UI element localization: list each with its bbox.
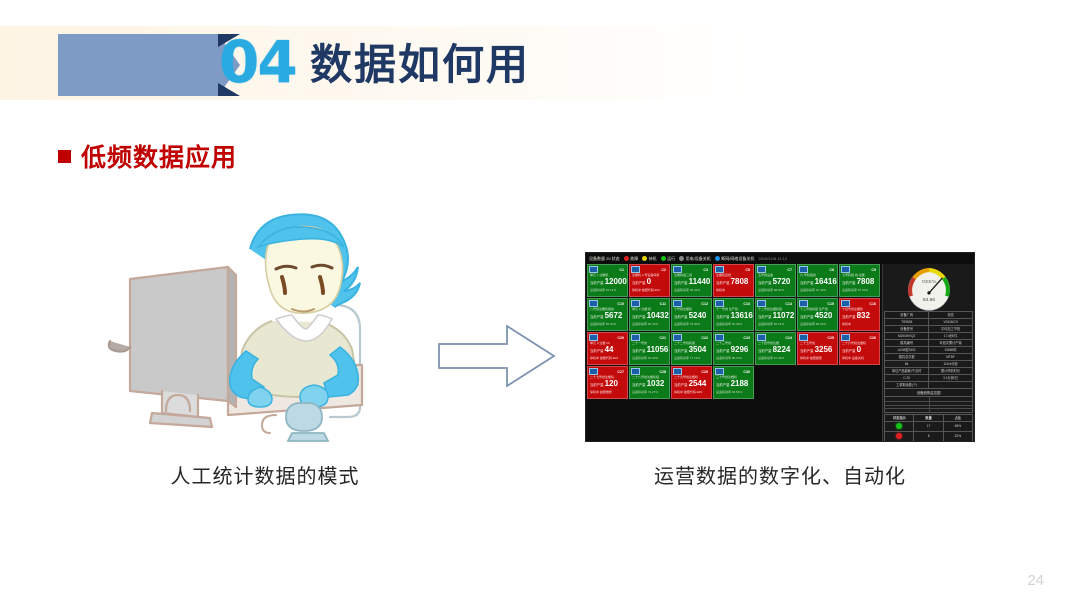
machine-output-label: 当前产量 bbox=[716, 349, 730, 353]
machine-icon bbox=[589, 300, 598, 307]
machine-id: C14 bbox=[785, 302, 794, 306]
machine-icon bbox=[715, 266, 724, 273]
subheading: 低频数据应用 bbox=[58, 138, 237, 174]
info-row: TS9605V0416/C9 bbox=[885, 319, 973, 326]
machine-id: C12 bbox=[701, 302, 710, 306]
machine-tile[interactable]: C16十四号线注塑机当前产量832停机中 bbox=[839, 298, 880, 331]
machine-icon bbox=[757, 334, 766, 341]
summary-row: 1768% bbox=[885, 422, 973, 432]
info-row: 模具总次数MTBF bbox=[885, 354, 973, 361]
machine-status-note: 设备稼动率 74.27% bbox=[630, 390, 669, 394]
info-row: 工单剩余数(个) bbox=[885, 382, 973, 389]
machine-icon bbox=[589, 334, 598, 341]
machine-tile[interactable]: C1单元 1 注塑机当前产量12000设备稼动率 93.12% bbox=[587, 264, 628, 297]
machine-output-value: 11440 bbox=[689, 277, 711, 286]
legend-item-network-off: 断网/网络设备关机 bbox=[715, 256, 755, 262]
summary-percent: 68% bbox=[943, 422, 972, 432]
page-number: 24 bbox=[1027, 572, 1044, 589]
machine-id: C3 bbox=[703, 268, 710, 272]
machine-icon bbox=[715, 300, 724, 307]
right-arrow-icon bbox=[437, 322, 557, 390]
machine-output-value: 0 bbox=[857, 345, 861, 354]
machine-status-note: 设备稼动率 90.44% bbox=[630, 322, 669, 326]
machine-status-note: 设备稼动率 94.30% bbox=[630, 356, 669, 360]
machine-status-note: 停机中 故障报警 bbox=[798, 356, 837, 360]
machine-tile[interactable]: C22二十二号线机组当前产量3504设备稼动率 77.12% bbox=[671, 332, 712, 365]
machine-output-label: 当前产量 bbox=[758, 349, 772, 353]
machine-output-label: 当前产量 bbox=[632, 315, 646, 319]
info-cell: V0416/C9 bbox=[929, 319, 973, 326]
summary-percent: 32% bbox=[943, 432, 972, 442]
oee-gauge: OEE% 84.86 bbox=[884, 265, 973, 311]
right-caption: 运营数据的数字化、自动化 bbox=[590, 460, 970, 489]
machine-id: C15 bbox=[827, 302, 836, 306]
page-title: 数据如何用 bbox=[310, 40, 530, 90]
status-dot-green-icon bbox=[885, 422, 914, 432]
info-row: 模具编号本班次累计产量 bbox=[885, 340, 973, 347]
legend-dot-idle bbox=[642, 256, 647, 261]
machine-id: C25 bbox=[827, 336, 836, 340]
dashboard-body: C1单元 1 注塑机当前产量12000设备稼动率 93.12%C2注塑机 2 号… bbox=[586, 264, 974, 442]
slide-header: 04 数据如何用 bbox=[0, 0, 1080, 120]
factory-production-dashboard: 设备数量 25 状态 故障 待机 运行 用电/设备关机 断网/网络设备关机 20… bbox=[585, 252, 975, 442]
machine-output-value: 11072 bbox=[773, 311, 795, 320]
machine-tile[interactable]: C28二十八号线注塑机组当前产量1032设备稼动率 74.27% bbox=[629, 366, 670, 399]
info-row: MJ00WVQ217.6秒/件 bbox=[885, 333, 973, 340]
machine-output-label: 当前产量 bbox=[800, 315, 814, 319]
machine-status-note: 停机中 故障代码 E03 bbox=[588, 356, 627, 360]
summary-count: 17 bbox=[914, 422, 943, 432]
machine-icon bbox=[715, 368, 724, 375]
legend-dot-fault bbox=[624, 256, 629, 261]
info-row: A208型280210886件 bbox=[885, 347, 973, 354]
summary-header-row: 状态指示数量占比 bbox=[885, 415, 973, 422]
machine-status-note: 设备稼动率 87.20% bbox=[840, 288, 879, 292]
machine-id: C28 bbox=[659, 370, 668, 374]
gauge-value: 84.86 bbox=[922, 297, 935, 303]
person-at-desktop-computer-illustration bbox=[100, 205, 430, 445]
machine-id: C29 bbox=[701, 370, 710, 374]
machine-info-table: 设备厂商状态TS9605V0416/C9设备型号平均加工节拍MJ00WVQ217… bbox=[884, 311, 973, 389]
machine-icon bbox=[799, 334, 808, 341]
info-cell: MTBF bbox=[929, 354, 973, 361]
legend-timestamp: 2019/12/8 11:12 bbox=[758, 256, 787, 261]
info-cell: 17.6秒/件 bbox=[929, 333, 973, 340]
machine-output-value: 2544 bbox=[689, 379, 707, 388]
machine-icon bbox=[841, 266, 850, 273]
machine-status-note: 设备稼动率 95.42% bbox=[672, 288, 711, 292]
machine-id: C2 bbox=[661, 268, 668, 272]
machine-tile[interactable]: C27二十七号线注塑机当前产量120停机中 故障维修 bbox=[587, 366, 628, 399]
machine-id: C24 bbox=[785, 336, 794, 340]
summary-header-cell: 状态指示 bbox=[885, 415, 914, 422]
machine-status-note: 设备稼动率 86.14% bbox=[756, 322, 795, 326]
machine-output-value: 44 bbox=[605, 345, 614, 354]
machine-output-value: 11056 bbox=[647, 345, 669, 354]
machine-status-note: 设备稼动率 77.12% bbox=[672, 356, 711, 360]
info-cell: MJ00WVQ2 bbox=[885, 333, 929, 340]
machine-status-note: 设备稼动率 87.33% bbox=[756, 356, 795, 360]
square-bullet-icon bbox=[58, 150, 71, 163]
info-row: 84118.6分钟 bbox=[885, 361, 973, 368]
machine-output-label: 当前产量 bbox=[632, 383, 646, 387]
machine-id: C8 bbox=[829, 268, 836, 272]
machine-output-value: 7808 bbox=[857, 277, 875, 286]
machine-tile[interactable]: C10八号线注塑机组线当前产量5672设备稼动率 85.00% bbox=[587, 298, 628, 331]
machine-output-label: 当前产量 bbox=[674, 281, 688, 285]
info-cell: 3.1分钟/日 bbox=[929, 375, 973, 382]
machine-status-note: 停机中 故障代码 E01 bbox=[630, 288, 669, 292]
machine-tile[interactable]: C2注塑机 2 号设备停机当前产量0停机中 故障代码 E01 bbox=[629, 264, 670, 297]
machine-output-value: 0 bbox=[647, 277, 651, 286]
machine-status-note: 停机中 bbox=[840, 322, 879, 326]
machine-output-value: 2188 bbox=[731, 379, 749, 388]
info-cell: 设备型号 bbox=[885, 326, 929, 333]
machine-status-note: 设备稼动率 93.12% bbox=[588, 288, 627, 292]
machine-status-note: 设备稼动率 88.60% bbox=[756, 288, 795, 292]
machine-id: C10 bbox=[617, 302, 626, 306]
info-row: 单位产品能耗/千瓦时累计停机时长 bbox=[885, 368, 973, 375]
machine-output-value: 5720 bbox=[773, 277, 791, 286]
machine-output-label: 当前产量 bbox=[800, 281, 814, 285]
machine-output-label: 当前产量 bbox=[842, 281, 856, 285]
machine-output-label: 当前产量 bbox=[842, 349, 856, 353]
machine-icon bbox=[757, 300, 766, 307]
info-cell: 单位产品能耗/千瓦时 bbox=[885, 368, 929, 375]
machine-status-note: 设备稼动率 85.00% bbox=[588, 322, 627, 326]
summary-header-cell: 占比 bbox=[943, 415, 972, 422]
machine-icon bbox=[631, 368, 640, 375]
info-cell: TS9605 bbox=[885, 319, 929, 326]
machine-output-value: 3504 bbox=[689, 345, 707, 354]
left-caption: 人工统计数据的模式 bbox=[60, 460, 470, 489]
machine-icon bbox=[715, 334, 724, 341]
machine-status-note: 设备稼动率 92.36% bbox=[714, 322, 753, 326]
section-number: 04 bbox=[219, 28, 296, 96]
machine-tile[interactable]: C5注塑机四线当前产量7808停机中 bbox=[713, 264, 754, 297]
machine-icon bbox=[631, 300, 640, 307]
machine-tile[interactable]: C30三十号线注塑机当前产量2188设备稼动率 84.56% bbox=[713, 366, 754, 399]
dashboard-side-panel: OEE% 84.86 设备厂商状态TS9605V0416/C9设备型号平均加工节… bbox=[882, 264, 974, 442]
trend-chart-area bbox=[884, 397, 973, 413]
machine-output-label: 当前产量 bbox=[590, 315, 604, 319]
info-cell: A208型2802 bbox=[885, 347, 929, 354]
machine-tile[interactable]: C11单元 2 注塑 机当前产量10432设备稼动率 90.44% bbox=[629, 298, 670, 331]
machine-status-note: 设备稼动率 80.52% bbox=[798, 322, 837, 326]
machine-output-value: 8224 bbox=[773, 345, 791, 354]
legend-label-fault: 故障 bbox=[630, 256, 638, 262]
machine-output-value: 4520 bbox=[815, 311, 833, 320]
machine-id: C13 bbox=[743, 302, 752, 306]
summary-header-cell: 数量 bbox=[914, 415, 943, 422]
machine-output-value: 10432 bbox=[647, 311, 669, 320]
machine-output-value: 7808 bbox=[731, 277, 749, 286]
machine-output-label: 当前产量 bbox=[590, 349, 604, 353]
machine-id: C23 bbox=[743, 336, 752, 340]
info-cell: 状态 bbox=[929, 312, 973, 319]
machine-icon bbox=[673, 334, 682, 341]
machine-output-label: 当前产量 bbox=[632, 349, 646, 353]
machine-output-label: 当前产量 bbox=[590, 383, 604, 387]
machine-icon bbox=[757, 266, 766, 273]
machine-output-label: 当前产量 bbox=[590, 281, 604, 285]
machine-output-value: 1032 bbox=[647, 379, 665, 388]
legend-item-power-off: 用电/设备关机 bbox=[679, 256, 711, 262]
gauge-top-label: OEE% bbox=[921, 279, 936, 285]
machine-id: C20 bbox=[617, 336, 626, 340]
info-cell bbox=[929, 382, 973, 389]
info-cell: 设备厂商 bbox=[885, 312, 929, 319]
legend-label-idle: 待机 bbox=[649, 256, 657, 262]
machine-icon bbox=[799, 266, 808, 273]
machine-status-note: 停机中 故障维修 bbox=[588, 390, 627, 394]
machine-output-label: 当前产量 bbox=[716, 281, 730, 285]
machine-tile[interactable]: C24二十四号线注塑当前产量8224设备稼动率 87.33% bbox=[755, 332, 796, 365]
machine-output-label: 当前产量 bbox=[674, 315, 688, 319]
info-row: 设备型号平均加工节拍 bbox=[885, 326, 973, 333]
machine-output-label: 当前产量 bbox=[716, 315, 730, 319]
info-cell: 模具编号 bbox=[885, 340, 929, 347]
machine-tile[interactable]: C8六 号机组线当前产量16416设备稼动率 91.43% bbox=[797, 264, 838, 297]
machine-output-label: 当前产量 bbox=[800, 349, 814, 353]
machine-tile[interactable]: C29二十九号线注塑机当前产量2544停机中 故障代码 E09 bbox=[671, 366, 712, 399]
machine-tile[interactable]: C12十号线注塑机当前产量5240设备稼动率 78.90% bbox=[671, 298, 712, 331]
legend-dot-power-off bbox=[679, 256, 684, 261]
machine-id: C11 bbox=[660, 302, 668, 306]
legend-label-running: 运行 bbox=[667, 256, 675, 262]
machine-output-label: 当前产量 bbox=[842, 315, 856, 319]
machine-output-label: 当前产量 bbox=[758, 281, 772, 285]
legend-label-network-off: 断网/网络设备关机 bbox=[721, 256, 754, 262]
machine-id: C1 bbox=[619, 268, 626, 272]
machine-id: C30 bbox=[743, 370, 752, 374]
legend-prefix: 设备数量 25 状态 bbox=[589, 256, 620, 262]
info-cell: 本班次累计产量 bbox=[929, 340, 973, 347]
machine-icon bbox=[631, 334, 640, 341]
machine-id: C27 bbox=[617, 370, 626, 374]
machine-id: C7 bbox=[787, 268, 794, 272]
machine-output-value: 13616 bbox=[731, 311, 753, 320]
section-tag-block bbox=[58, 34, 218, 96]
machine-id: C9 bbox=[871, 268, 878, 272]
machine-output-label: 当前产量 bbox=[758, 315, 772, 319]
info-cell: 模具总次数 bbox=[885, 354, 929, 361]
legend-dot-running bbox=[661, 256, 666, 261]
machine-output-value: 9296 bbox=[731, 345, 749, 354]
machine-id: C26 bbox=[869, 336, 878, 340]
machine-status-note: 设备稼动率 78.90% bbox=[672, 322, 711, 326]
machine-status-note: 停机中 故障代码 E09 bbox=[672, 390, 711, 394]
machine-output-label: 当前产量 bbox=[674, 383, 688, 387]
status-summary-table: 状态指示数量占比1768%832% bbox=[884, 414, 973, 442]
machine-tile[interactable]: C9七号机组 线 注塑当前产量7808设备稼动率 87.20% bbox=[839, 264, 880, 297]
machine-tile[interactable]: C25二十五号线当前产量3256停机中 故障报警 bbox=[797, 332, 838, 365]
machine-tile[interactable]: C21二十一号线当前产量11056设备稼动率 94.30% bbox=[629, 332, 670, 365]
machine-icon bbox=[841, 300, 850, 307]
machine-tile[interactable]: C3注塑机组三线当前产量11440设备稼动率 95.42% bbox=[671, 264, 712, 297]
info-cell: 平均加工节拍 bbox=[929, 326, 973, 333]
legend-item-fault: 故障 bbox=[624, 256, 639, 262]
machine-id: C22 bbox=[701, 336, 710, 340]
legend-label-power-off: 用电/设备关机 bbox=[686, 256, 711, 262]
machine-output-label: 当前产量 bbox=[632, 281, 646, 285]
machine-output-label: 当前产量 bbox=[716, 383, 730, 387]
machine-status-note: 停机中 bbox=[714, 288, 753, 292]
info-cell: 118.6分钟 bbox=[929, 361, 973, 368]
machine-icon bbox=[673, 300, 682, 307]
status-dot-red-icon bbox=[885, 432, 914, 442]
machine-status-note: 设备稼动率 84.56% bbox=[714, 390, 753, 394]
summary-row: 832% bbox=[885, 432, 973, 442]
machine-output-value: 3256 bbox=[815, 345, 833, 354]
machine-status-note: 设备稼动率 91.43% bbox=[798, 288, 837, 292]
machine-icon bbox=[631, 266, 640, 273]
machine-id: C16 bbox=[869, 302, 878, 306]
subheading-label: 低频数据应用 bbox=[81, 138, 237, 174]
dashboard-legend: 设备数量 25 状态 故障 待机 运行 用电/设备关机 断网/网络设备关机 20… bbox=[586, 253, 974, 264]
machine-output-value: 120 bbox=[605, 379, 618, 388]
machine-icon bbox=[589, 266, 598, 273]
machine-tile-grid: C1单元 1 注塑机当前产量12000设备稼动率 93.12%C2注塑机 2 号… bbox=[586, 264, 882, 442]
machine-output-label: 当前产量 bbox=[674, 349, 688, 353]
legend-dot-network-off bbox=[715, 256, 720, 261]
machine-tile[interactable]: C13十一号线 生产线当前产量13616设备稼动率 92.36% bbox=[713, 298, 754, 331]
machine-icon bbox=[799, 300, 808, 307]
info-cell: C.20 bbox=[885, 375, 929, 382]
info-row: 设备厂商状态 bbox=[885, 312, 973, 319]
machine-id: C5 bbox=[745, 268, 752, 272]
machine-status-note: 停机中 设备关机 bbox=[840, 356, 879, 360]
machine-tile[interactable]: C20单元 3 注塑 20当前产量44停机中 故障代码 E03 bbox=[587, 332, 628, 365]
info-cell: 累计停机时长 bbox=[929, 368, 973, 375]
machine-tile[interactable]: C15十三号线机组 生产线当前产量4520设备稼动率 80.52% bbox=[797, 298, 838, 331]
info-cell: 84 bbox=[885, 361, 929, 368]
machine-icon bbox=[673, 368, 682, 375]
info-cell: 工单剩余数(个) bbox=[885, 382, 929, 389]
info-row: C.203.1分钟/日 bbox=[885, 375, 973, 382]
machine-tile[interactable]: C26二十六号线注塑机当前产量0停机中 设备关机 bbox=[839, 332, 880, 365]
machine-output-value: 832 bbox=[857, 311, 870, 320]
machine-output-value: 12000 bbox=[605, 277, 627, 286]
legend-item-running: 运行 bbox=[661, 256, 676, 262]
machine-status-note: 设备稼动率 88.70% bbox=[714, 356, 753, 360]
legend-item-idle: 待机 bbox=[642, 256, 657, 262]
machine-tile[interactable]: C14十二号线注塑机组当前产量11072设备稼动率 86.14% bbox=[755, 298, 796, 331]
machine-icon bbox=[841, 334, 850, 341]
machine-tile[interactable]: C7五号线设备当前产量5720设备稼动率 88.60% bbox=[755, 264, 796, 297]
machine-icon bbox=[673, 266, 682, 273]
machine-id: C21 bbox=[659, 336, 668, 340]
machine-output-value: 5240 bbox=[689, 311, 707, 320]
machine-output-value: 16416 bbox=[815, 277, 837, 286]
machine-output-value: 5672 bbox=[605, 311, 623, 320]
info-cell: 10886件 bbox=[929, 347, 973, 354]
machine-tile[interactable]: C23二十三号线当前产量9296设备稼动率 88.70% bbox=[713, 332, 754, 365]
summary-count: 8 bbox=[914, 432, 943, 442]
machine-icon bbox=[589, 368, 598, 375]
trend-chart-title: 设备趋势监控图 bbox=[884, 389, 973, 397]
